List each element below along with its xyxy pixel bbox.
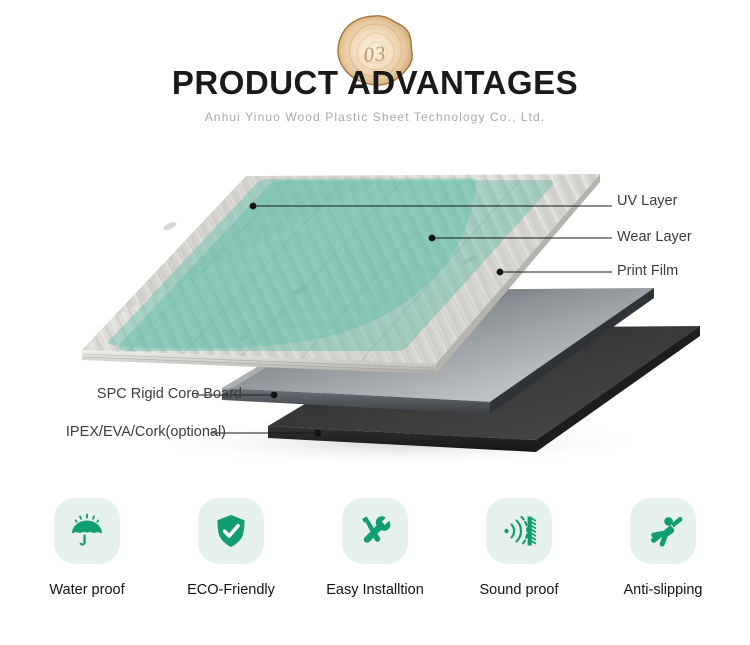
- callout-label-print-film: Print Film: [617, 264, 678, 279]
- sound-wave-barrier-icon: [499, 511, 539, 551]
- callout-label-spc-core: SPC Rigid Core Board: [97, 387, 242, 402]
- feature-item-easy-installation[interactable]: Easy Installtion: [316, 498, 434, 638]
- feature-item-anti-slipping[interactable]: Anti-slipping: [604, 498, 722, 638]
- feature-label: Sound proof: [479, 582, 558, 598]
- feature-tile: [198, 498, 264, 564]
- feature-label: Easy Installtion: [326, 582, 424, 598]
- feature-list: Water proof ECO-Friendly Easy Ins: [0, 498, 750, 638]
- callout-label-ipex-eva-cork: IPEX/EVA/Cork(optional): [66, 425, 226, 440]
- umbrella-rain-icon: [67, 511, 107, 551]
- feature-tile: [486, 498, 552, 564]
- feature-tile: [54, 498, 120, 564]
- callout-label-wear-layer: Wear Layer: [617, 230, 692, 245]
- page-header: 03 PRODUCT ADVANTAGES Anhui Yinuo Wood P…: [0, 0, 750, 140]
- shield-check-icon: [211, 511, 251, 551]
- spc-flooring-layer-diagram: UV Layer Wear Layer Print Film SPC Rigid…: [0, 150, 750, 480]
- feature-tile: [342, 498, 408, 564]
- feature-item-water-proof[interactable]: Water proof: [28, 498, 146, 638]
- feature-item-sound-proof[interactable]: Sound proof: [460, 498, 578, 638]
- slipping-person-icon: [643, 511, 683, 551]
- feature-label: Water proof: [49, 582, 124, 598]
- callout-label-uv-layer: UV Layer: [617, 194, 677, 209]
- feature-item-eco-friendly[interactable]: ECO-Friendly: [172, 498, 290, 638]
- screwdriver-wrench-icon: [355, 511, 395, 551]
- feature-tile: [630, 498, 696, 564]
- feature-label: ECO-Friendly: [187, 582, 275, 598]
- feature-label: Anti-slipping: [624, 582, 703, 598]
- company-subtitle: Anhui Yinuo Wood Plastic Sheet Technolog…: [0, 110, 750, 124]
- page-title: PRODUCT ADVANTAGES: [0, 66, 750, 99]
